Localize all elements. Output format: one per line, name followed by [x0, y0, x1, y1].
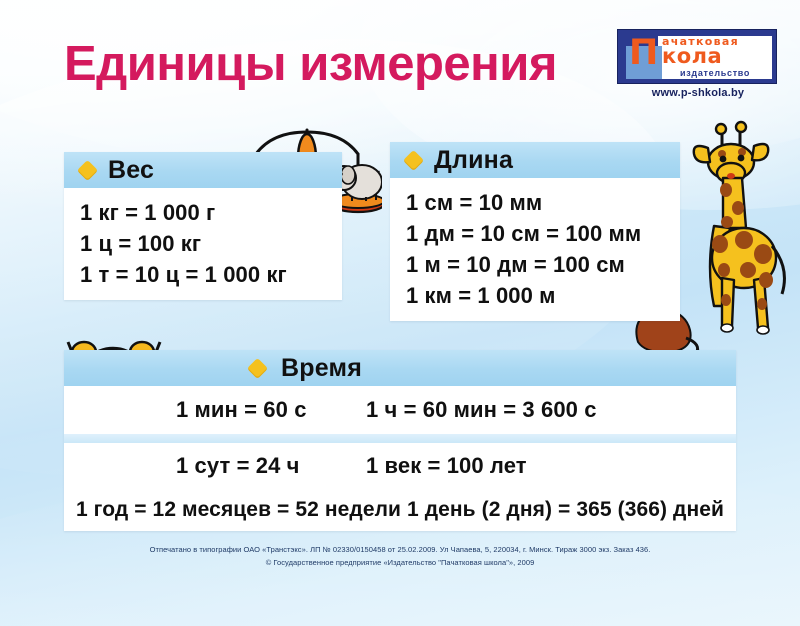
section-title-length: Длина	[434, 146, 513, 175]
equation-line: 1 мин = 60 с	[176, 394, 366, 425]
equation-line: 1 дм = 10 см = 100 мм	[406, 218, 680, 249]
section-body-weight: 1 кг = 1 000 г 1 ц = 100 кг 1 т = 10 ц =…	[64, 188, 342, 300]
section-card-length: Длина 1 см = 10 мм 1 дм = 10 см = 100 мм…	[390, 142, 680, 321]
equation-line: 1 кг = 1 000 г	[80, 197, 342, 228]
time-row-days-centuries: 1 сут = 24 ч 1 век = 100 лет	[64, 443, 736, 489]
equation-line: 1 м = 10 дм = 100 см	[406, 249, 680, 280]
equation-line: 1 км = 1 000 м	[406, 280, 680, 311]
section-header-weight: Вес	[64, 152, 342, 188]
equation-line: 1 см = 10 мм	[406, 187, 680, 218]
logo-card: П ачатковая кола издательство	[617, 29, 777, 84]
section-body-time: 1 мин = 60 с 1 ч = 60 мин = 3 600 с 1 су…	[64, 386, 736, 531]
publisher-website-url[interactable]: www.p-shkola.by	[617, 87, 779, 99]
section-body-length: 1 см = 10 мм 1 дм = 10 см = 100 мм 1 м =…	[390, 178, 680, 321]
equation-line: 1 век = 100 лет	[366, 450, 527, 481]
giraffe-icon	[678, 118, 796, 348]
time-row-minutes-hours: 1 мин = 60 с 1 ч = 60 мин = 3 600 с	[64, 386, 736, 434]
equation-line: 1 сут = 24 ч	[176, 450, 366, 481]
time-row-divider	[64, 434, 736, 443]
logo-letter-p: П	[629, 37, 658, 70]
section-header-length: Длина	[390, 142, 680, 178]
section-header-time: Время	[64, 350, 736, 386]
section-title-weight: Вес	[108, 156, 154, 185]
section-card-weight: Вес 1 кг = 1 000 г 1 ц = 100 кг 1 т = 10…	[64, 152, 342, 300]
diamond-bullet-icon	[77, 159, 98, 180]
logo-word-main: кола	[662, 44, 722, 68]
section-card-time: Время 1 мин = 60 с 1 ч = 60 мин = 3 600 …	[64, 350, 736, 531]
footer-print-info: Отпечатано в типографии ОАО «Транстэкс».…	[0, 543, 800, 556]
publisher-logo: П ачатковая кола издательство www.p-shko…	[617, 29, 779, 99]
page-title: Единицы измерения	[64, 36, 557, 92]
logo-word-sub: издательство	[680, 68, 750, 78]
footer-copyright: © Государственное предприятие «Издательс…	[0, 556, 800, 569]
equation-line: 1 ц = 100 кг	[80, 228, 342, 259]
equation-line: 1 год = 12 месяцев = 52 недели 1 день (2…	[76, 495, 724, 525]
time-row-year: 1 год = 12 месяцев = 52 недели 1 день (2…	[64, 489, 736, 531]
footer: Отпечатано в типографии ОАО «Транстэкс».…	[0, 543, 800, 569]
poster-canvas: Единицы измерения П ачатковая кола издат…	[0, 0, 800, 626]
diamond-bullet-icon	[403, 149, 424, 170]
section-title-time: Время	[281, 354, 362, 383]
diamond-bullet-icon	[247, 357, 268, 378]
equation-line: 1 ч = 60 мин = 3 600 с	[366, 394, 597, 425]
equation-line: 1 т = 10 ц = 1 000 кг	[80, 259, 342, 290]
